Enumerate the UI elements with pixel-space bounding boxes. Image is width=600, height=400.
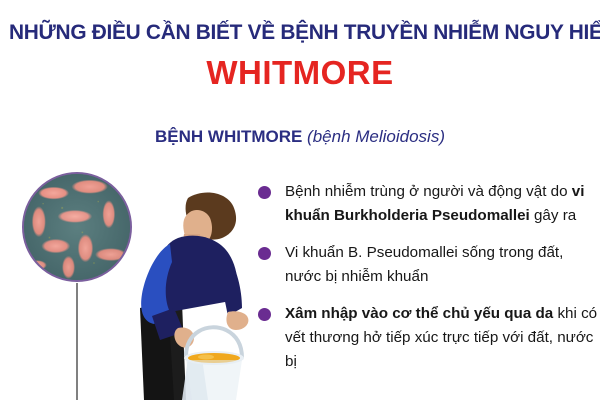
bullet-definition-text: Bệnh nhiễm trùng ở người và động vật do … [285,183,584,224]
person-svg [130,190,265,400]
bullet-dot-icon [258,186,271,199]
page-title-line2: WHITMORE [0,54,600,92]
bullet-habitat-text: Vi khuẩn B. Pseudomallei sống trong đất,… [285,244,563,285]
bullet-dot-icon [258,308,271,321]
micrograph-speckle-layer [24,174,130,280]
bucket-lower [186,360,242,400]
bacteria-micrograph [22,172,132,282]
section-heading-italic: (bệnh Melioidosis) [307,127,445,146]
bullet-transmission-text: Xâm nhập vào cơ thể chủ yếu qua da khi c… [285,305,597,370]
grain-highlight [198,355,214,360]
bullet-definition: Bệnh nhiễm trùng ở người và động vật do … [255,180,600,228]
bullet-list: Bệnh nhiễm trùng ở người và động vật do … [255,180,600,374]
section-heading: BỆNH WHITMORE (bệnh Melioidosis) [0,127,600,147]
person-with-bucket-illustration [130,190,265,400]
micrograph-connector-line [76,283,78,400]
hand-right [226,311,248,330]
infographic-page: NHỮNG ĐIỀU CẦN BIẾT VỀ BỆNH TRUYỀN NHIỄM… [0,0,600,400]
page-title-line1: NHỮNG ĐIỀU CẦN BIẾT VỀ BỆNH TRUYỀN NHIỄM… [9,20,591,45]
bullet-habitat: Vi khuẩn B. Pseudomallei sống trong đất,… [255,241,600,289]
bullet-transmission: Xâm nhập vào cơ thể chủ yếu qua da khi c… [255,302,600,374]
section-heading-bold: BỆNH WHITMORE [155,127,307,146]
bullet-dot-icon [258,247,271,260]
